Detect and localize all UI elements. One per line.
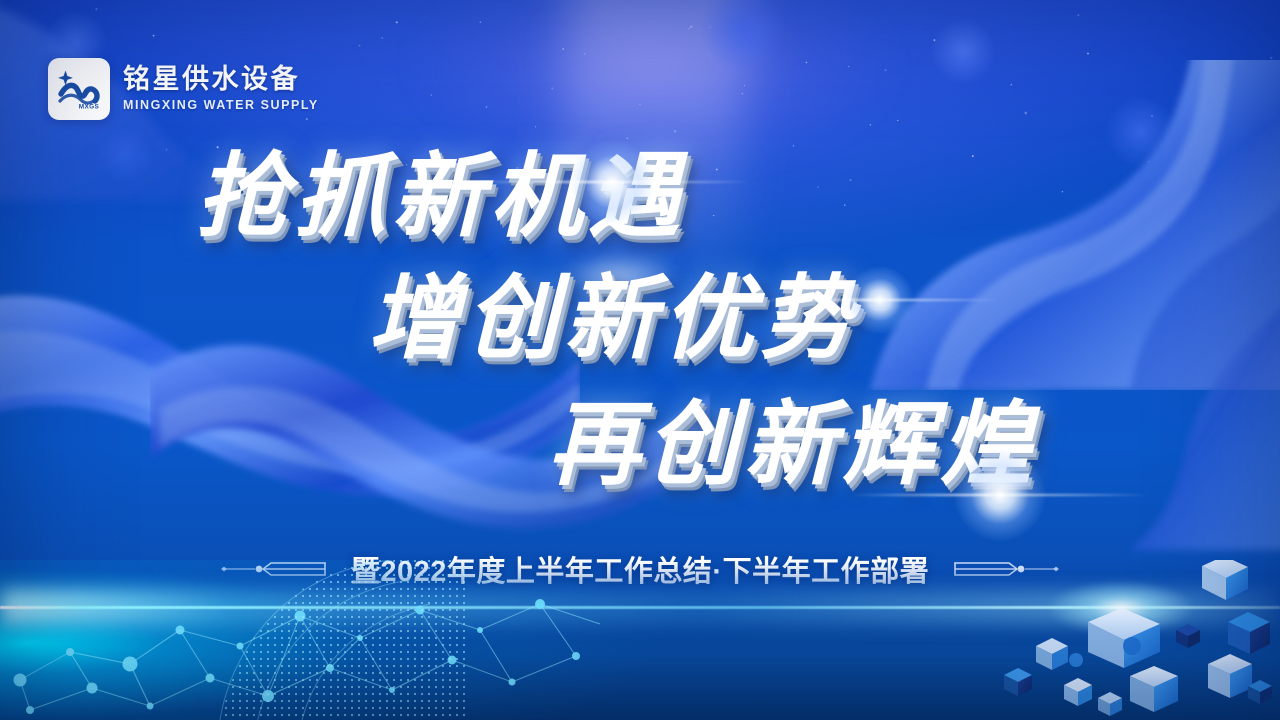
bottom-tech-scene — [0, 560, 1280, 720]
headline-line-2: 增创新优势 — [368, 272, 858, 364]
brand-name-cn: 铭星供水设备 — [123, 66, 319, 93]
banner-poster: MXGS 铭星供水设备 MINGXING WATER SUPPLY 抢抓新机遇 … — [0, 0, 1280, 720]
brand-name-en: MINGXING WATER SUPPLY — [123, 99, 319, 112]
brand-logo: MXGS 铭星供水设备 MINGXING WATER SUPPLY — [48, 58, 319, 120]
headline-line-1: 抢抓新机遇 — [196, 150, 686, 242]
svg-text:MXGS: MXGS — [79, 104, 100, 111]
bokeh-circle-icon — [96, 126, 154, 184]
floating-3d-cubes-icon — [980, 560, 1280, 720]
dotted-globe-arc-icon — [210, 560, 470, 720]
mingxing-wave-m-logo-icon: MXGS — [48, 58, 110, 120]
headline-line-3: 再创新辉煌 — [548, 398, 1038, 490]
bokeh-circle-icon — [1105, 96, 1177, 168]
